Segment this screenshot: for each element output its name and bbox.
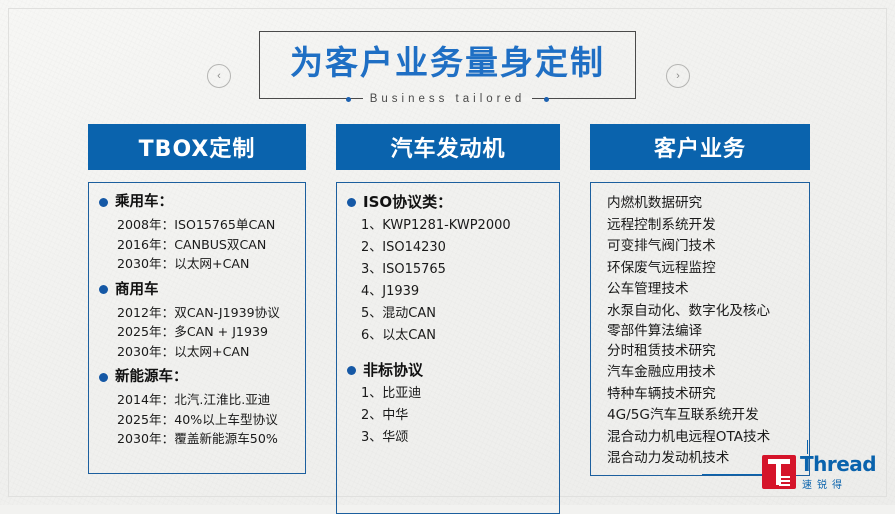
list-item: 水泵自动化、数字化及核心: [601, 301, 799, 321]
columns-container: TBOX定制 乘用车： 2008年：ISO15765单CAN 2016年：CAN…: [0, 0, 895, 505]
bullet-icon: [99, 285, 108, 294]
logo-bar: [779, 484, 790, 486]
list-item: 2030年：以太网+CAN: [117, 342, 295, 362]
list-item: 5、混动CAN: [361, 303, 549, 325]
list-item: 3、华颂: [361, 427, 549, 449]
group-passenger-vehicle: 乘用车： 2008年：ISO15765单CAN 2016年：CANBUS双CAN…: [99, 193, 295, 274]
logo-decor-line-horizontal: [702, 474, 762, 475]
list-item: 2025年：40%以上车型协议: [117, 410, 295, 430]
list-item: 零部件算法编译: [601, 321, 799, 341]
column-header-customer-business: 客户业务: [590, 124, 810, 170]
list-item: 特种车辆技术研究: [601, 384, 799, 406]
group-iso-protocols: ISO协议类： 1、KWP1281-KWP2000 2、ISO14230 3、I…: [347, 193, 549, 347]
column-header-tbox: TBOX定制: [88, 124, 306, 170]
column-customer-business: 客户业务 内燃机数据研究 远程控制系统开发 可变排气阀门技术 环保废气远程监控 …: [590, 124, 810, 476]
list-item: 2、ISO14230: [361, 237, 549, 259]
list-item: 可变排气阀门技术: [601, 236, 799, 258]
group-title-label: 商用车: [115, 281, 159, 299]
list-item: 2012年：双CAN-J1939协议: [117, 303, 295, 323]
thread-logo-icon: [762, 455, 796, 489]
list-item: 2030年：以太网+CAN: [117, 254, 295, 274]
slide-canvas: ‹ › 为客户业务量身定制 Business tailored TBOX定制 乘…: [0, 0, 895, 505]
list-item: 2、中华: [361, 405, 549, 427]
list-item: 2008年：ISO15765单CAN: [117, 215, 295, 235]
column-body-tbox: 乘用车： 2008年：ISO15765单CAN 2016年：CANBUS双CAN…: [88, 182, 306, 474]
list-item: 分时租赁技术研究: [601, 341, 799, 363]
logo-wordmark: Thread: [800, 453, 876, 475]
group-title-label: 新能源车：: [115, 368, 188, 386]
list-item: 2014年：北汽.江淮比.亚迪: [117, 390, 295, 410]
bullet-icon: [99, 373, 108, 382]
group-items: 2012年：双CAN-J1939协议 2025年：多CAN + J1939 20…: [99, 303, 295, 362]
list-item: 4G/5G汽车互联系统开发: [601, 405, 799, 427]
company-logo: Thread 速锐得: [762, 452, 887, 496]
group-items: 1、KWP1281-KWP2000 2、ISO14230 3、ISO15765 …: [347, 215, 549, 347]
list-item: 公车管理技术: [601, 279, 799, 301]
column-header-engine: 汽车发动机: [336, 124, 560, 170]
group-items: 2014年：北汽.江淮比.亚迪 2025年：40%以上车型协议 2030年：覆盖…: [99, 390, 295, 449]
group-title-row: ISO协议类：: [347, 193, 549, 211]
list-item: 混合动力机电远程OTA技术: [601, 427, 799, 449]
list-item: 2025年：多CAN + J1939: [117, 322, 295, 342]
list-item: 3、ISO15765: [361, 259, 549, 281]
group-new-energy-vehicle: 新能源车： 2014年：北汽.江淮比.亚迪 2025年：40%以上车型协议 20…: [99, 368, 295, 449]
list-item: 环保废气远程监控: [601, 258, 799, 280]
list-item: 1、KWP1281-KWP2000: [361, 215, 549, 237]
list-item: 汽车金融应用技术: [601, 362, 799, 384]
logo-bar: [779, 476, 790, 478]
group-title-label: 非标协议: [363, 361, 423, 379]
group-title-row: 商用车: [99, 281, 295, 299]
group-title-label: 乘用车：: [115, 193, 173, 211]
list-item: 2016年：CANBUS双CAN: [117, 235, 295, 255]
group-nonstandard-protocols: 非标协议 1、比亚迪 2、中华 3、华颂: [347, 361, 549, 449]
bullet-icon: [99, 198, 108, 207]
list-item: 4、J1939: [361, 281, 549, 303]
group-items: 1、比亚迪 2、中华 3、华颂: [347, 383, 549, 449]
group-commercial-vehicle: 商用车 2012年：双CAN-J1939协议 2025年：多CAN + J193…: [99, 281, 295, 362]
group-title-row: 乘用车：: [99, 193, 295, 211]
group-title-row: 非标协议: [347, 361, 549, 379]
column-body-engine: ISO协议类： 1、KWP1281-KWP2000 2、ISO14230 3、I…: [336, 182, 560, 514]
logo-chinese-name: 速锐得: [802, 476, 847, 491]
list-item: 1、比亚迪: [361, 383, 549, 405]
column-body-customer-business: 内燃机数据研究 远程控制系统开发 可变排气阀门技术 环保废气远程监控 公车管理技…: [590, 182, 810, 476]
list-item: 远程控制系统开发: [601, 215, 799, 237]
group-items: 2008年：ISO15765单CAN 2016年：CANBUS双CAN 2030…: [99, 215, 295, 274]
group-title-row: 新能源车：: [99, 368, 295, 386]
list-item: 2030年：覆盖新能源车50%: [117, 429, 295, 449]
group-title-label: ISO协议类：: [363, 193, 452, 211]
bullet-icon: [347, 198, 356, 207]
bullet-icon: [347, 366, 356, 375]
column-engine: 汽车发动机 ISO协议类： 1、KWP1281-KWP2000 2、ISO142…: [336, 124, 560, 514]
list-item: 6、以太CAN: [361, 325, 549, 347]
column-tbox: TBOX定制 乘用车： 2008年：ISO15765单CAN 2016年：CAN…: [88, 124, 306, 474]
logo-bar: [779, 480, 790, 482]
list-item: 内燃机数据研究: [601, 193, 799, 215]
